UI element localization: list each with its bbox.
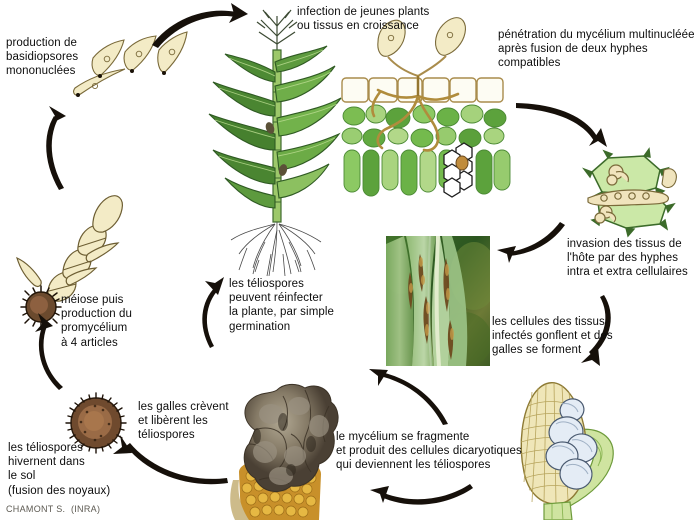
arrow-teliospore-reinfect bbox=[202, 277, 224, 348]
label-line: les cellules des tissus bbox=[492, 316, 605, 328]
label-line: téliospores bbox=[138, 429, 195, 441]
label-line: pénétration du mycélium multinucléée bbox=[498, 29, 695, 41]
label-mycelium-fragmente: le mycélium se fragmenteet produit des c… bbox=[336, 430, 522, 473]
label-line: infection de jeunes plants bbox=[297, 6, 429, 18]
label-line: à 4 articles bbox=[61, 337, 118, 349]
label-line: l'hôte par des hyphes bbox=[567, 252, 678, 264]
label-invasion-tissus: invasion des tissus del'hôte par des hyp… bbox=[567, 237, 688, 280]
label-line: le sol bbox=[8, 470, 35, 482]
label-meiose-promycelium: méiose puisproduction dupromycéliumà 4 a… bbox=[61, 293, 132, 350]
arrow-penetration-to-invasion bbox=[516, 103, 607, 147]
label-line: le mycélium se fragmente bbox=[336, 431, 469, 443]
label-line: après fusion de deux hyphes bbox=[498, 43, 648, 55]
label-line: les téliospores bbox=[229, 278, 304, 290]
label-line: production de bbox=[6, 37, 77, 49]
label-line: infectés gonflent et des bbox=[492, 330, 613, 342]
label-line: invasion des tissus de bbox=[567, 238, 682, 250]
label-line: promycélium bbox=[61, 322, 127, 334]
label-teliospores-hivernent: les téliosporeshivernent dansle sol(fusi… bbox=[8, 441, 110, 498]
label-galles-crevent: les galles crèventet libèrent lestéliosp… bbox=[138, 400, 229, 443]
label-line: peuvent réinfecter bbox=[229, 292, 323, 304]
arrow-basidiospores-to-plant bbox=[152, 3, 248, 48]
label-line: les téliospores bbox=[8, 442, 83, 454]
label-line: et libèrent les bbox=[138, 415, 208, 427]
label-line: qui deviennent les téliospores bbox=[336, 459, 491, 471]
label-line: compatibles bbox=[498, 57, 560, 69]
label-line: basidiopsores bbox=[6, 51, 78, 63]
label-line: la plante, par simple bbox=[229, 306, 334, 318]
label-line: intra et extra cellulaires bbox=[567, 266, 688, 278]
label-infection-jeunes-plants: infection de jeunes plantsou tissus en c… bbox=[297, 5, 429, 33]
label-line: germination bbox=[229, 321, 290, 333]
label-cellules-gonflent: les cellules des tissusinfectés gonflent… bbox=[492, 315, 613, 358]
label-line: mononuclées bbox=[6, 65, 76, 77]
label-line: ou tissus en croissance bbox=[297, 20, 419, 32]
label-penetration-mycelium: pénétration du mycélium multinuclééeaprè… bbox=[498, 28, 695, 71]
arrow-invasion-to-leaf-photo bbox=[497, 222, 565, 263]
label-line: méiose puis bbox=[61, 294, 123, 306]
arrow-promycelium-to-basidiospores bbox=[46, 106, 66, 190]
lifecycle-diagram: production debasidiopsoresmononuclées in… bbox=[0, 0, 700, 520]
arrow-teliospore-to-meiosis bbox=[35, 313, 63, 390]
label-line: (fusion des noyaux) bbox=[8, 485, 110, 497]
label-line: production du bbox=[61, 308, 132, 320]
label-line: galles se forment bbox=[492, 344, 581, 356]
credit-line: CHAMONT S. (INRA) bbox=[6, 504, 100, 514]
label-line: les galles crèvent bbox=[138, 401, 229, 413]
arrow-cob-to-white-cob bbox=[370, 484, 473, 505]
label-teliospores-reinfectent: les téliosporespeuvent réinfecterla plan… bbox=[229, 277, 334, 334]
arrow-fragmentation bbox=[369, 369, 448, 425]
label-line: et produit des cellules dicaryotiques bbox=[336, 445, 522, 457]
label-line: hivernent dans bbox=[8, 456, 85, 468]
label-production-basidiospores: production debasidiopsoresmononuclées bbox=[6, 36, 78, 79]
